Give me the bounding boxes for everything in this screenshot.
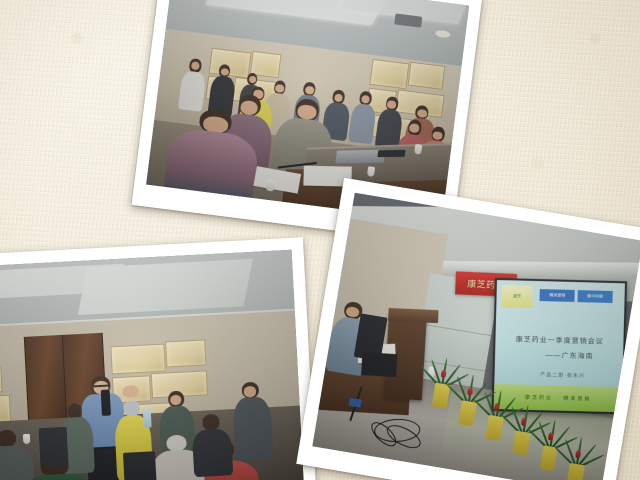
presentation-screen-image: 康芝药业 康芝 精准营销 [312,193,640,480]
slide-title-line-1: 康芝药业一季度营销会议 [503,334,616,347]
chair-back [38,427,69,466]
foreground-attendee [163,105,263,207]
wall-niche [369,59,410,89]
meeting-audience-image [146,0,469,222]
slide-header: 康芝 精准营销 集中突破 [501,286,620,311]
wall-niche [408,62,445,90]
ceiling-light-panel [78,259,253,315]
photo-collage: 康芝药业 康芝 精准营销 [0,0,640,480]
plant-pot [566,463,584,480]
monitor [361,352,397,377]
plant-pot [458,400,476,426]
audience-question-photo[interactable] [0,237,317,480]
slide-logo: 康芝 [501,286,532,309]
plant-pot [485,415,503,441]
microphone [100,389,111,415]
power-adapter [349,398,362,408]
paper-cup [22,434,30,444]
attendee [191,414,233,477]
presentation-screen-photo[interactable]: 康芝药业 康芝 精准营销 [296,178,640,480]
slide-logo-text: 康芝 [513,294,521,300]
slide-tab-two: 集中突破 [577,291,613,304]
audience-question-image [0,250,304,480]
slide-subtitle: 产品二部·张永兴 [517,371,607,380]
paper-cup [366,166,374,177]
chair-back [123,451,157,480]
podium-top [388,308,438,323]
slide-title-line-2: ——广东海南 [520,350,618,363]
slide-tab-two-text: 集中突破 [587,294,603,300]
wall-niche [165,339,207,367]
smartphone [378,149,406,156]
wall-niche [111,344,166,375]
water-bottle [143,408,152,427]
slide-tab-one: 精准营销 [539,290,575,303]
slide-tab-one-text: 精准营销 [549,293,565,299]
plant-pot [512,430,530,456]
